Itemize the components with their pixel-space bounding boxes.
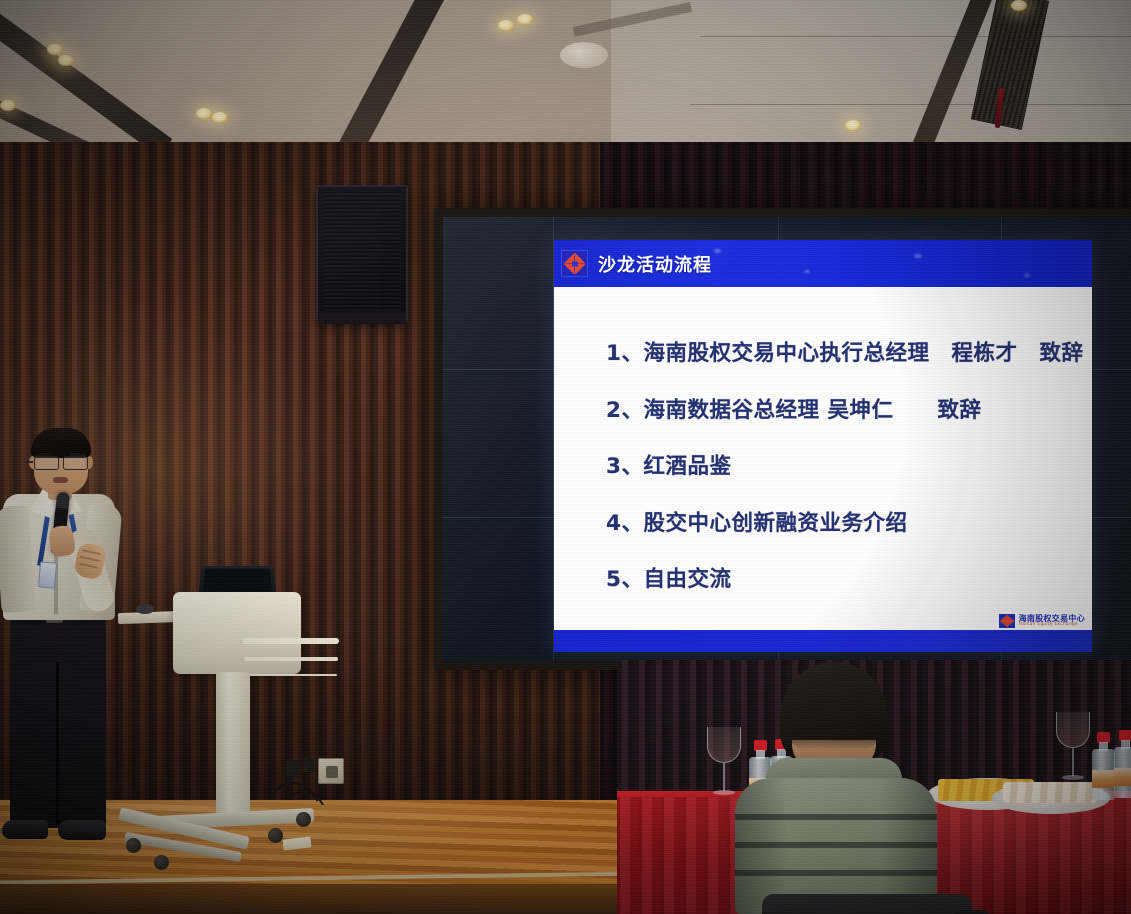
lectern-caster bbox=[154, 855, 169, 870]
agenda-item-3: 3、红酒品鉴 bbox=[606, 449, 1092, 480]
speaker-base bbox=[318, 312, 406, 324]
header-sparkle bbox=[914, 254, 922, 258]
video-wall-screen[interactable]: 沙龙活动流程 1、海南股权交易中心执行总经理 程栋才 致辞 2、海南数据谷总经理… bbox=[434, 208, 1131, 670]
header-sparkle bbox=[804, 270, 810, 273]
ceiling-spotlight bbox=[196, 108, 212, 119]
ceiling-beam bbox=[0, 0, 172, 157]
footer-brand-text: 海南股权交易中心 Hainan Equity Exchange bbox=[1019, 615, 1085, 628]
ceiling-spotlight bbox=[517, 14, 533, 25]
ceiling-spotlight bbox=[0, 100, 16, 111]
presenter bbox=[0, 432, 138, 862]
computer-mouse-icon[interactable] bbox=[136, 604, 154, 614]
water-bottle bbox=[1092, 732, 1115, 800]
presenter-shoe-right bbox=[58, 820, 106, 840]
agenda-item-1: 1、海南股权交易中心执行总经理 程栋才 致辞 bbox=[606, 336, 1092, 367]
wall-speaker-icon bbox=[316, 185, 408, 322]
ceiling-seam bbox=[690, 104, 1131, 105]
stage-front-face bbox=[0, 884, 640, 914]
eyeglasses-icon bbox=[32, 456, 90, 468]
agenda-item-5: 5、自由交流 bbox=[606, 562, 1092, 593]
water-bottle bbox=[1114, 730, 1131, 798]
slide-agenda-list: 1、海南股权交易中心执行总经理 程栋才 致辞 2、海南数据谷总经理 吴坤仁 致辞… bbox=[554, 287, 1092, 622]
presentation-scene-photo: 沙龙活动流程 1、海南股权交易中心执行总经理 程栋才 致辞 2、海南数据谷总经理… bbox=[0, 0, 1131, 914]
presenter-badge bbox=[38, 561, 57, 588]
ceiling-spotlight bbox=[212, 112, 228, 123]
ceiling bbox=[0, 0, 1131, 158]
seated-attendee bbox=[718, 662, 950, 914]
ceiling-spotlight bbox=[498, 20, 514, 31]
ceiling-spotlight bbox=[1011, 0, 1027, 11]
footer-logo-icon bbox=[999, 614, 1015, 628]
agenda-item-2: 2、海南数据谷总经理 吴坤仁 致辞 bbox=[606, 393, 1092, 424]
chair-back bbox=[762, 894, 972, 914]
lectern-column bbox=[216, 672, 250, 824]
lectern-caster bbox=[268, 828, 283, 843]
lectern-panel-detail bbox=[243, 638, 339, 644]
presenter-mouth bbox=[53, 477, 68, 483]
header-sparkle bbox=[714, 249, 721, 253]
footer-brand-en: Hainan Equity Exchange bbox=[1019, 623, 1085, 628]
presentation-slide[interactable]: 沙龙活动流程 1、海南股权交易中心执行总经理 程栋才 致辞 2、海南数据谷总经理… bbox=[554, 240, 1092, 652]
ceiling-spotlight bbox=[58, 55, 74, 66]
finger-line bbox=[79, 563, 98, 569]
eyeglasses-bridge bbox=[25, 461, 33, 463]
header-sparkle bbox=[1024, 274, 1030, 277]
wine-glass-stem bbox=[1072, 748, 1074, 776]
chair-armrest bbox=[954, 910, 990, 914]
presenter-shoe-left bbox=[2, 820, 48, 839]
finger-line bbox=[79, 556, 100, 562]
ceiling-panel-right bbox=[611, 0, 1131, 158]
ceiling-spotlight bbox=[47, 44, 63, 55]
slide-footer-bar bbox=[554, 630, 1092, 652]
finger-line bbox=[82, 549, 101, 555]
bottle-label bbox=[1092, 770, 1115, 788]
slide-footer-logo: 海南股权交易中心 Hainan Equity Exchange bbox=[997, 610, 1089, 632]
lectern-panel bbox=[173, 592, 301, 674]
attendee-hairline bbox=[786, 728, 882, 750]
agenda-item-4: 4、股交中心创新融资业务介绍 bbox=[606, 506, 1092, 537]
ceiling-smoke-detector bbox=[498, 100, 516, 109]
bottle-label bbox=[1114, 768, 1131, 786]
speaker-grill bbox=[323, 192, 401, 315]
wall-power-socket bbox=[318, 758, 344, 784]
ceiling-seam bbox=[700, 36, 1131, 37]
mobile-lectern[interactable] bbox=[118, 560, 318, 865]
wine-glass-base bbox=[1062, 775, 1084, 780]
wine-glass-bowl bbox=[1056, 712, 1090, 748]
lectern-caster bbox=[296, 812, 311, 827]
hainan-equity-exchange-logo-icon bbox=[561, 250, 588, 277]
ceiling-dome-fixture bbox=[560, 42, 608, 68]
presenter-trouser-seam bbox=[56, 662, 59, 827]
video-wall-inner: 沙龙活动流程 1、海南股权交易中心执行总经理 程栋才 致辞 2、海南数据谷总经理… bbox=[443, 217, 1131, 661]
slide-header: 沙龙活动流程 bbox=[554, 240, 1092, 287]
wine-glass bbox=[1056, 712, 1090, 786]
laptop-screen bbox=[203, 569, 272, 594]
ceiling-beam bbox=[174, 0, 460, 158]
slide-title: 沙龙活动流程 bbox=[598, 251, 712, 277]
ceiling-spotlight bbox=[845, 120, 861, 131]
presenter-hand-holding-mic bbox=[48, 524, 76, 557]
